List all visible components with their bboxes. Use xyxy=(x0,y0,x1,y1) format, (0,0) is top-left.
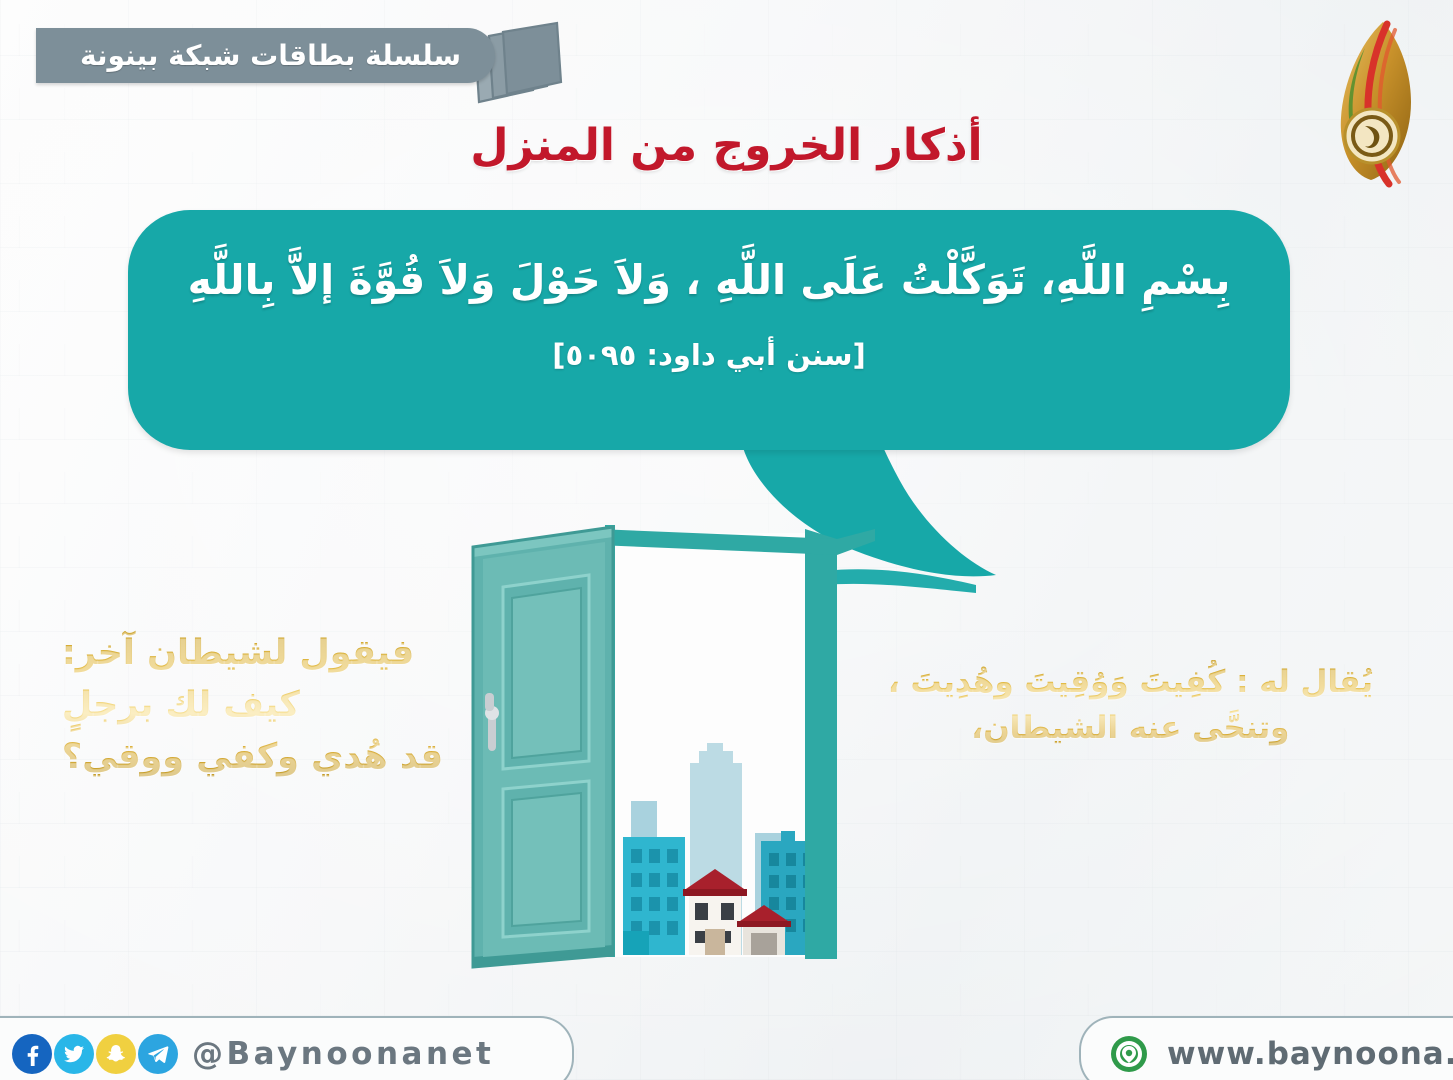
dhikr-text: بِسْمِ اللَّهِ، تَوَكَّلْتُ عَلَى اللَّه… xyxy=(128,256,1290,304)
left-narration-text: فيقول لشيطان آخر: كيف لك برجلٍ قد هُدي و… xyxy=(62,628,443,783)
telegram-icon[interactable] xyxy=(138,1034,178,1074)
series-banner-label: سلسلة بطاقات شبكة بينونة xyxy=(80,39,461,72)
social-icons-group xyxy=(12,1034,178,1074)
facebook-icon[interactable] xyxy=(12,1034,52,1074)
snapchat-icon[interactable] xyxy=(96,1034,136,1074)
series-banner-bar: سلسلة بطاقات شبكة بينونة xyxy=(36,28,495,83)
infographic-card: سلسلة بطاقات شبكة بينونة أذكار الخروج من… xyxy=(0,0,1453,1080)
left-narration-line-1: فيقول لشيطان آخر: xyxy=(62,628,443,680)
dhikr-bubble: بِسْمِ اللَّهِ، تَوَكَّلْتُ عَلَى اللَّه… xyxy=(128,210,1290,450)
right-narration-text: يُقال له : كُفِيتَ وَوُقِيتَ وهُدِيتَ ، … xyxy=(888,660,1373,752)
right-narration-line-1: يُقال له : كُفِيتَ وَوُقِيتَ وهُدِيتَ ، xyxy=(888,660,1373,706)
right-narration-line-2: وتنحَّى عنه الشيطان، xyxy=(888,706,1373,752)
social-footer-bar: @Baynoonanet xyxy=(0,1016,574,1080)
globe-icon xyxy=(1107,1032,1151,1076)
website-url[interactable]: www.baynoona.net xyxy=(1167,1036,1453,1072)
twitter-icon[interactable] xyxy=(54,1034,94,1074)
open-door-with-cityscape xyxy=(455,515,875,975)
social-handle[interactable]: @Baynoonanet xyxy=(192,1036,494,1072)
left-narration-line-2: كيف لك برجلٍ xyxy=(62,680,443,732)
page-title: أذكار الخروج من المنزل xyxy=(0,120,1453,171)
left-narration-line-3: قد هُدي وكفي ووقي؟ xyxy=(62,732,443,784)
series-banner: سلسلة بطاقات شبكة بينونة xyxy=(36,22,573,86)
website-footer-bar: www.baynoona.net xyxy=(1079,1016,1453,1080)
dhikr-source: [سنن أبي داود: ٥٠٩٥] xyxy=(128,338,1290,372)
